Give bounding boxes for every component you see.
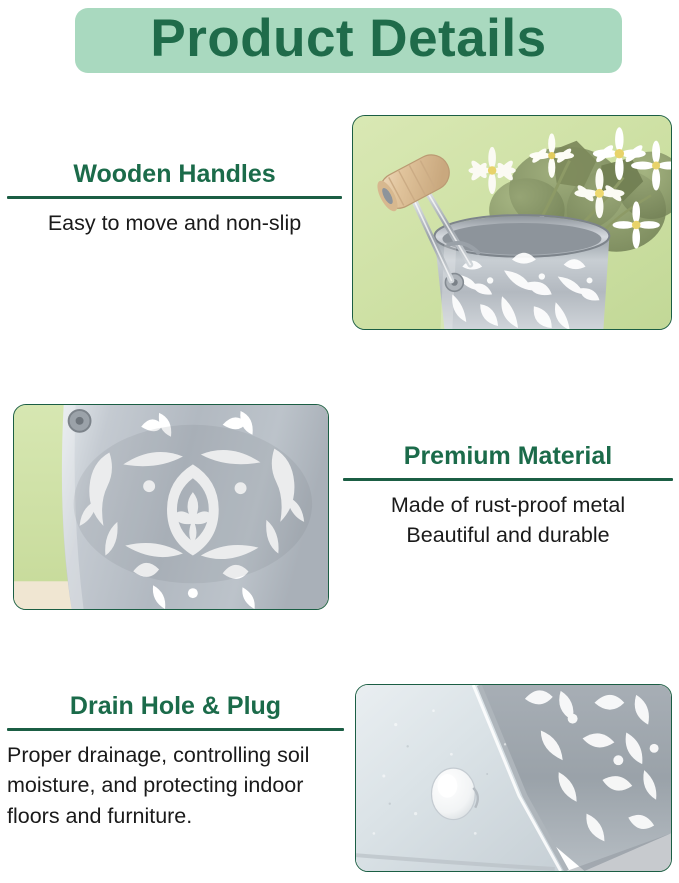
feature-heading-premium-material: Premium Material: [343, 442, 673, 471]
product-details-infographic: Product Details Wooden Handles Easy to m…: [0, 0, 679, 883]
rivet: [69, 410, 91, 432]
feature-body-line: Easy to move and non-slip: [7, 208, 342, 239]
feature-text-drain-hole-plug: Drain Hole & Plug Proper drainage, contr…: [7, 692, 344, 831]
feature-text-wooden-handles: Wooden Handles Easy to move and non-slip: [7, 160, 342, 238]
feature-body-line: Proper drainage, controlling soil: [7, 740, 344, 771]
photo-drain-plug-graphic: [356, 685, 671, 871]
feature-body-line: Made of rust-proof metal: [343, 490, 673, 521]
feature-divider-1: [7, 196, 342, 199]
product-photo-embossed-pattern: [13, 404, 329, 610]
feature-text-premium-material: Premium Material Made of rust-proof meta…: [343, 442, 673, 551]
product-photo-drain-plug: [355, 684, 672, 872]
photo-embossed-pattern-graphic: [14, 405, 328, 609]
page-title: Product Details: [75, 8, 622, 73]
feature-body-line: moisture, and protecting indoor: [7, 770, 344, 801]
feature-body-line: floors and furniture.: [7, 801, 344, 832]
feature-body-premium-material: Made of rust-proof metal Beautiful and d…: [343, 490, 673, 551]
product-photo-wooden-handle: [352, 115, 672, 330]
feature-heading-wooden-handles: Wooden Handles: [7, 160, 342, 189]
feature-heading-drain-hole-plug: Drain Hole & Plug: [7, 692, 344, 721]
feature-body-line: Beautiful and durable: [343, 520, 673, 551]
feature-divider-3: [7, 728, 344, 731]
feature-body-drain-hole-plug: Proper drainage, controlling soil moistu…: [7, 740, 344, 832]
page-title-banner: Product Details: [75, 8, 622, 73]
feature-body-wooden-handles: Easy to move and non-slip: [7, 208, 342, 239]
feature-divider-2: [343, 478, 673, 481]
photo-wooden-handle-graphic: [353, 116, 671, 329]
metal-planter-body: [434, 215, 609, 329]
